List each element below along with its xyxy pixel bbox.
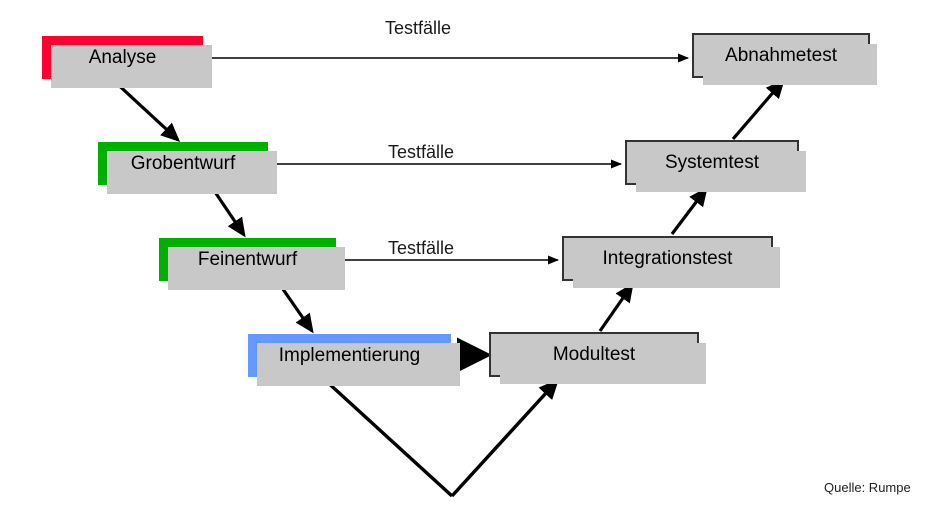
edge-analyse-to-grobentwurf [113, 80, 178, 140]
edge-label-testfaelle-2: Testfälle [388, 142, 454, 163]
v-model-diagram: Analyse Grobentwurf Feinentwurf Implemen… [0, 0, 951, 517]
node-systemtest[interactable]: Systemtest [625, 140, 799, 185]
node-label: Modultest [553, 345, 635, 364]
edge-implementierung-to-vertex [325, 380, 452, 496]
source-attribution: Quelle: Rumpe [824, 480, 911, 495]
edge-vertex-to-modultest [452, 381, 557, 496]
node-label: Analyse [89, 48, 157, 67]
node-integrationstest[interactable]: Integrationstest [562, 236, 773, 281]
node-feinentwurf[interactable]: Feinentwurf [159, 238, 336, 281]
edge-systemtest-to-abnahmetest [733, 81, 783, 139]
node-label: Grobentwurf [131, 154, 236, 173]
node-grobentwurf[interactable]: Grobentwurf [98, 142, 268, 185]
node-label: Implementierung [279, 346, 421, 365]
node-analyse[interactable]: Analyse [42, 36, 203, 79]
node-label: Systemtest [665, 153, 759, 172]
node-implementierung[interactable]: Implementierung [248, 334, 451, 377]
edge-modultest-to-integrationstest [600, 285, 632, 331]
node-label: Feinentwurf [198, 250, 297, 269]
node-label: Abnahmetest [725, 46, 837, 65]
edge-label-testfaelle-3: Testfälle [388, 238, 454, 259]
edge-label-testfaelle-1: Testfälle [385, 18, 451, 39]
node-label: Integrationstest [603, 249, 733, 268]
node-modultest[interactable]: Modultest [489, 332, 699, 377]
edge-integrationstest-to-systemtest [672, 189, 706, 234]
node-abnahmetest[interactable]: Abnahmetest [692, 33, 870, 78]
